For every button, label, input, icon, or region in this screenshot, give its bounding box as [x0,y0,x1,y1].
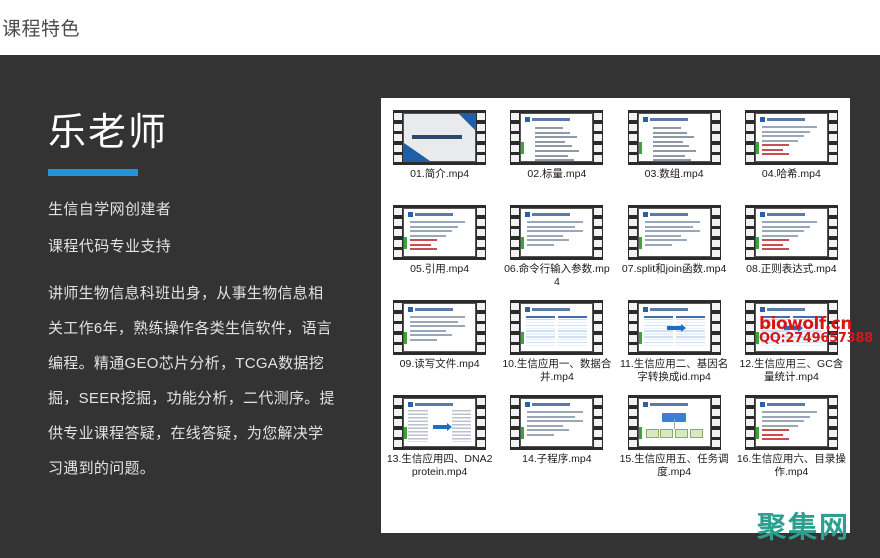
slide-table-row [676,342,705,343]
film-perforation [511,155,519,162]
slide-table-row [644,330,673,331]
film-perforation [394,303,402,310]
slide-tri-bl [404,143,430,161]
film-perforation [629,419,637,426]
film-perforation [746,124,754,131]
film-perforation [712,124,720,131]
slide-table-column [676,316,705,346]
slide-text-line [645,230,700,232]
film-perforation [829,219,837,226]
film-perforation [511,134,519,141]
video-thumbnail[interactable] [510,300,603,355]
film-perforation [746,219,754,226]
slide-text-lines [410,221,470,253]
film-perforations-left [746,113,754,162]
slide-table-row [761,333,790,334]
slide-table-row [644,336,673,337]
film-perforations-right [594,398,602,447]
slide-table-row [676,333,705,334]
film-perforation [712,219,720,226]
film-perforation [746,345,754,352]
slide-table [761,316,822,346]
video-thumbnail[interactable] [510,205,603,260]
slide-table-row [526,322,555,323]
slide-title-text [412,135,462,139]
video-thumbnail[interactable] [393,205,486,260]
slide-arrow-icon [667,326,681,330]
slide-title-bar [415,213,453,216]
film-perforation [594,250,602,257]
video-thumbnail[interactable] [510,395,603,450]
film-perforation [829,335,837,342]
slide-play-marker [639,332,642,344]
film-perforation [746,155,754,162]
slide-arrow-wrap [430,410,450,442]
film-perforations-left [629,113,637,162]
slide-text-line [762,149,783,151]
film-perforation [511,240,519,247]
file-item[interactable]: 01.简介.mp4 [381,106,498,201]
film-perforations-right [594,303,602,352]
slide-table-row [558,336,587,337]
slide-text-line [527,425,563,427]
slide-text-line [645,239,687,241]
slide-play-marker [756,237,759,249]
film-perforation [477,398,485,405]
film-perforation [629,124,637,131]
slide-table-row [761,336,790,337]
file-item[interactable]: 10.生信应用一、数据合并.mp4 [498,296,615,391]
slide-preview [755,398,828,447]
video-thumbnail[interactable] [393,110,486,165]
film-perforation [712,314,720,321]
film-perforation [712,430,720,437]
film-perforation [477,155,485,162]
slide-table-row [793,336,822,337]
slide-sequence-block [452,410,472,442]
film-perforation [394,229,402,236]
slide-table-row [558,328,587,329]
slide-header [525,212,588,217]
film-perforation [511,250,519,257]
film-perforation [511,440,519,447]
film-perforation [394,240,402,247]
slide-bullet-line [653,136,694,138]
film-perforations-right [712,208,720,257]
film-perforation [829,440,837,447]
slide-text-line [410,325,465,327]
instructor-highlight-1: 课程代码专业支持 [48,239,348,254]
slide-preview [403,398,476,447]
film-perforation [629,250,637,257]
slide-text-line [762,420,804,422]
slide-header [760,307,823,312]
slide-text-line [527,244,554,246]
film-perforation [594,219,602,226]
film-perforation [746,250,754,257]
film-perforation [511,314,519,321]
film-perforation [394,324,402,331]
film-perforation [511,335,519,342]
brand-logo: 聚集网 [757,504,850,546]
slide-sequence-block [408,410,428,442]
film-perforation [477,208,485,215]
slide-text-line [762,230,804,232]
slide-table-column [558,316,587,346]
film-perforation [629,324,637,331]
slide-header [643,212,706,217]
file-item[interactable]: 05.引用.mp4 [381,201,498,296]
slide-text-lines [410,316,470,343]
file-item[interactable]: 11.生信应用二、基因名字转换成id.mp4 [616,296,733,391]
film-perforation [511,113,519,120]
slide-bullet-icon [760,402,765,407]
film-perforations-right [594,208,602,257]
film-perforation [629,314,637,321]
film-perforation [829,430,837,437]
video-thumbnail[interactable] [745,205,838,260]
film-perforation [394,335,402,342]
film-perforations-right [477,398,485,447]
slide-text-line [410,248,437,250]
film-perforation [394,430,402,437]
slide-table-row [526,333,555,334]
slide-table-row [558,319,587,320]
slide-play-marker [521,237,524,249]
slide-bullet-line [535,155,567,157]
video-thumbnail[interactable] [745,300,838,355]
slide-table-row [644,333,673,334]
slide-text-line [762,411,817,413]
slide-header [408,212,471,217]
film-perforation [829,145,837,152]
film-perforation [829,229,837,236]
slide-text-line [410,230,452,232]
slide-table-column [793,316,822,346]
slide-bullet-line [535,132,570,134]
slide-arrow-icon [433,425,447,429]
film-perforation [394,134,402,141]
film-perforation [594,398,602,405]
slide-table-row [676,336,705,337]
file-label: 15.生信应用五、任务调度.mp4 [619,453,729,479]
slide-table-row [793,339,822,340]
slide-table-column [761,316,790,346]
slide-tri-tr [459,114,475,130]
file-label: 10.生信应用一、数据合并.mp4 [502,358,612,384]
film-perforation [829,134,837,141]
film-perforation [477,345,485,352]
video-thumbnail[interactable] [745,110,838,165]
video-thumbnail[interactable] [628,300,721,355]
file-label: 14.子程序.mp4 [502,453,612,466]
film-perforation [712,208,720,215]
film-perforation [629,229,637,236]
film-perforation [594,419,602,426]
film-perforation [477,229,485,236]
film-perforation [511,430,519,437]
film-perforation [746,303,754,310]
slide-text-line [410,330,446,332]
film-perforation [594,240,602,247]
file-item[interactable]: 16.生信应用六、目录操作.mp4 [733,391,850,486]
slide-preview [638,113,711,162]
slide-header [525,307,588,312]
slide-text-line [527,420,582,422]
slide-header [643,117,706,122]
film-perforation [594,124,602,131]
slide-flow-children [646,429,703,438]
slide-title-bar [767,308,805,311]
film-perforations-left [511,398,519,447]
film-perforations-left [511,113,519,162]
slide-flow-node [690,429,703,438]
slide-text-line [527,221,582,223]
slide-bullet-list [535,127,586,162]
slide-text-line [762,126,817,128]
slide-bullet-line [535,145,572,147]
file-item[interactable]: 13.生信应用四、DNA2protein.mp4 [381,391,498,486]
slide-table-row [526,328,555,329]
file-item[interactable]: 04.哈希.mp4 [733,106,850,201]
film-perforation [746,240,754,247]
slide-text-line [762,140,798,142]
film-perforations-right [829,303,837,352]
slide-preview [755,113,828,162]
slide-table-header [676,316,705,318]
file-label: 04.哈希.mp4 [736,168,846,181]
film-perforation [712,229,720,236]
file-item[interactable]: 14.子程序.mp4 [498,391,615,486]
slide-text-line [762,244,783,246]
film-perforation [394,314,402,321]
film-perforation [629,113,637,120]
film-perforation [829,208,837,215]
slide-flow-connector [674,419,675,429]
slide-text-line [410,321,458,323]
film-perforation [594,155,602,162]
slide-text-line [527,230,582,232]
slide-bullet-icon [643,307,648,312]
film-perforations-left [746,303,754,352]
film-perforation [511,229,519,236]
video-thumbnail[interactable] [745,395,838,450]
file-item[interactable]: 12.生信应用三、GC含量统计.mp4 [733,296,850,391]
file-label: 01.简介.mp4 [385,168,495,181]
film-perforation [629,335,637,342]
slide-text-line [527,235,563,237]
film-perforation [829,345,837,352]
slide-bullet-line [653,145,690,147]
film-perforation [511,398,519,405]
slide-table-row [526,342,555,343]
film-perforations-left [394,208,402,257]
slide-play-marker [639,142,642,154]
slide-bullet-icon [643,212,648,217]
slide-header [525,117,588,122]
slide-header [408,307,471,312]
film-perforation [746,208,754,215]
slide-table-row [761,339,790,340]
slide-text-line [410,235,446,237]
slide-header [408,402,471,407]
film-perforation [629,303,637,310]
film-perforation [746,324,754,331]
slide-text-line [762,425,798,427]
film-perforation [629,440,637,447]
file-item[interactable]: 03.数组.mp4 [616,106,733,201]
slide-play-marker [521,332,524,344]
slide-bullet-line [535,159,574,161]
slide-text-line [527,416,575,418]
film-perforation [477,219,485,226]
film-perforation [746,398,754,405]
file-label: 02.标量.mp4 [502,168,612,181]
slide-table-row [761,345,790,346]
content-stage: 乐老师 生信自学网创建者 课程代码专业支持 讲师生物信息科班出身，从事生物信息相… [0,55,880,558]
film-perforation [477,419,485,426]
film-perforation [477,145,485,152]
slide-preview [403,113,476,162]
slide-title-bar [650,403,688,406]
film-perforation [746,335,754,342]
file-item[interactable]: 09.读写文件.mp4 [381,296,498,391]
file-item[interactable]: 02.标量.mp4 [498,106,615,201]
film-perforation [629,145,637,152]
file-browser-panel: 01.简介.mp402.标量.mp403.数组.mp404.哈希.mp405.引… [381,98,850,533]
video-thumbnail[interactable] [628,110,721,165]
film-perforation [712,155,720,162]
film-perforation [594,345,602,352]
slide-header [760,212,823,217]
slide-table-row [526,330,555,331]
slide-table-row [644,339,673,340]
slide-table-row [761,322,790,323]
video-thumbnail[interactable] [393,395,486,450]
film-perforations-right [712,398,720,447]
slide-table-row [793,342,822,343]
slide-text-line [762,153,789,155]
slide-table-header [558,316,587,318]
slide-text-line [527,411,582,413]
slide-bullet-icon [760,307,765,312]
film-perforation [629,430,637,437]
film-perforation [829,409,837,416]
film-perforation [594,430,602,437]
film-perforations-left [629,303,637,352]
slide-flow-node [660,429,673,438]
film-perforation [629,240,637,247]
film-perforations-right [477,113,485,162]
slide-play-marker [639,427,642,439]
page-header: 课程特色 [0,0,880,55]
film-perforation [746,409,754,416]
film-perforation [511,324,519,331]
slide-title-bar [650,213,688,216]
slide-bullet-line [535,127,563,129]
film-perforation [629,219,637,226]
slide-table-row [644,342,673,343]
film-perforation [712,409,720,416]
slide-bullet-icon [525,402,530,407]
slide-table-row [526,319,555,320]
slide-header [643,402,706,407]
slide-table-row [558,339,587,340]
slide-bullet-icon [643,402,648,407]
file-item[interactable]: 06.命令行输入参数.mp4 [498,201,615,296]
film-perforation [511,208,519,215]
film-perforation [746,430,754,437]
film-perforations-right [594,113,602,162]
slide-preview [755,303,828,352]
film-perforation [746,134,754,141]
film-perforation [394,155,402,162]
slide-preview [520,303,593,352]
file-label: 08.正则表达式.mp4 [736,263,846,276]
film-perforation [594,335,602,342]
film-perforation [746,419,754,426]
video-thumbnail[interactable] [628,205,721,260]
video-thumbnail[interactable] [393,300,486,355]
film-perforation [746,314,754,321]
slide-text-line [762,144,789,146]
slide-table-row [793,333,822,334]
video-thumbnail[interactable] [510,110,603,165]
film-perforation [829,419,837,426]
film-perforation [477,430,485,437]
slide-preview [755,208,828,257]
slide-table-row [558,342,587,343]
file-item[interactable]: 15.生信应用五、任务调度.mp4 [616,391,733,486]
film-perforation [511,219,519,226]
slide-text-line [410,244,431,246]
film-perforation [829,398,837,405]
slide-preview [638,303,711,352]
slide-arrow-icon [784,326,798,330]
film-perforation [477,303,485,310]
slide-preview [638,208,711,257]
film-perforation [629,398,637,405]
film-perforation [712,134,720,141]
film-perforation [477,440,485,447]
slide-text-line [527,239,569,241]
film-perforation [477,250,485,257]
film-perforations-left [746,208,754,257]
slide-table [644,316,705,346]
slide-text-lines [762,126,822,158]
slide-table-row [644,319,673,320]
slide-text-line [762,416,810,418]
instructor-bio: 讲师生物信息科班出身，从事生物信息相关工作6年，熟练操作各类生信软件，语言编程。… [48,276,336,486]
slide-play-marker [404,332,407,344]
slide-table [526,316,587,346]
slide-table-header [526,316,555,318]
film-perforation [629,134,637,141]
slide-table-column [526,316,555,346]
film-perforation [712,303,720,310]
film-perforation [829,113,837,120]
slide-table-row [644,345,673,346]
slide-text-line [762,226,810,228]
file-item[interactable]: 07.split和join函数.mp4 [616,201,733,296]
video-thumbnail[interactable] [628,395,721,450]
film-perforation [712,345,720,352]
file-item[interactable]: 08.正则表达式.mp4 [733,201,850,296]
film-perforation [712,398,720,405]
film-perforation [594,134,602,141]
film-perforation [594,314,602,321]
film-perforation [477,335,485,342]
